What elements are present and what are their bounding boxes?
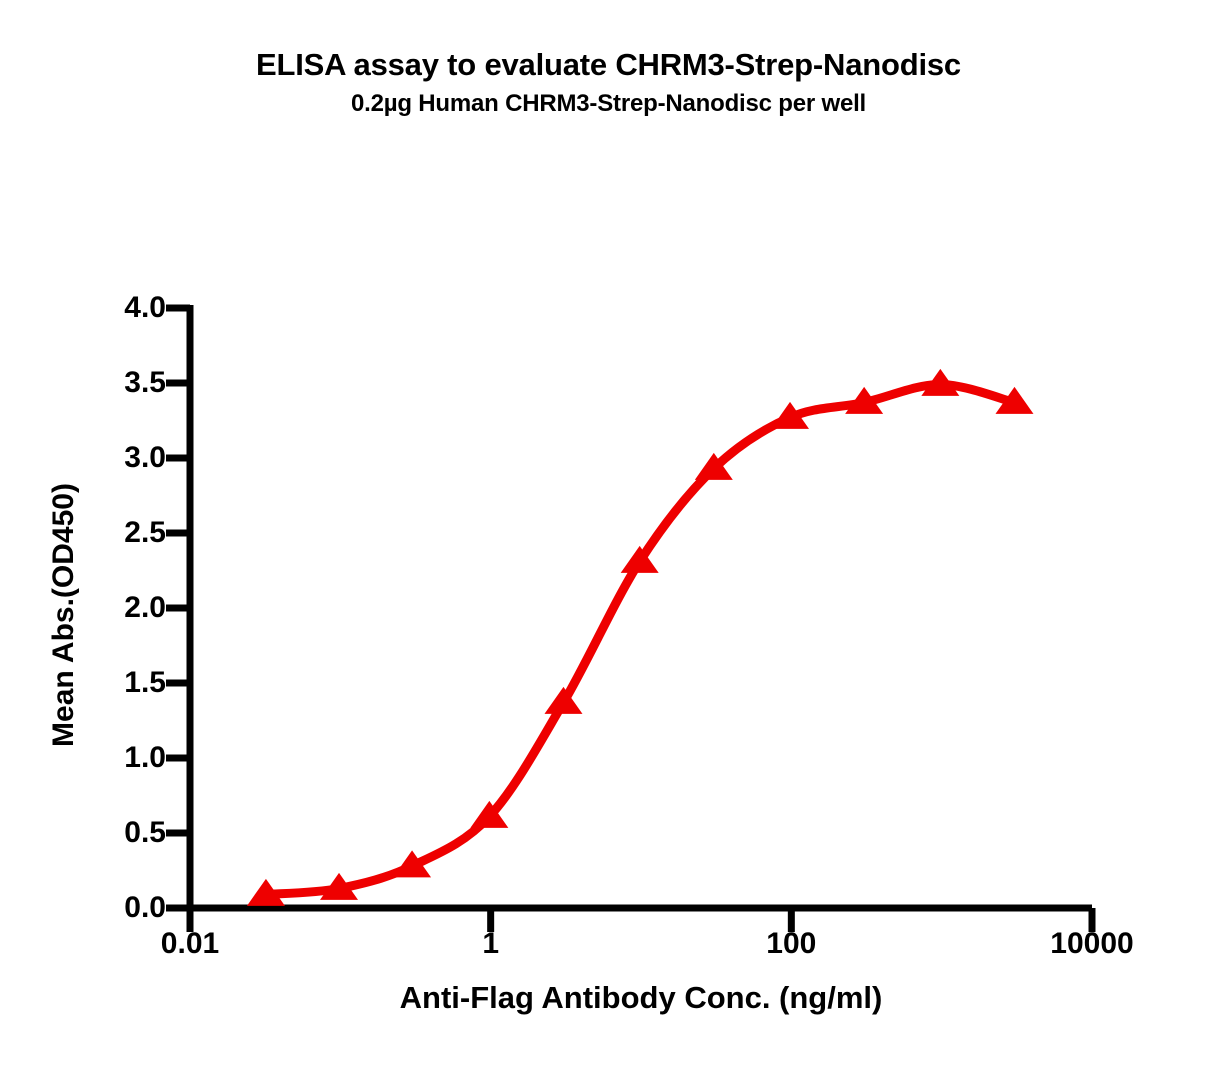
plot-canvas bbox=[0, 0, 1217, 1079]
x-axis-tick-label-text: 100 bbox=[691, 928, 891, 960]
data-point-marker bbox=[621, 546, 659, 573]
x-axis-title: Anti-Flag Antibody Conc. (ng/ml) bbox=[190, 980, 1092, 1016]
y-axis-tick-label: 4.0 bbox=[40, 293, 166, 323]
x-axis-tick-label-text: 10000 bbox=[992, 928, 1192, 960]
x-axis-tick-label: 0.01 bbox=[90, 928, 290, 960]
series-line bbox=[266, 385, 1015, 895]
x-axis-tick-label: 100 bbox=[691, 928, 891, 960]
elisa-chart-figure: ELISA assay to evaluate CHRM3-Strep-Nano… bbox=[0, 0, 1217, 1079]
axes bbox=[187, 305, 1092, 911]
x-axis-tick-label-text: 1 bbox=[391, 928, 591, 960]
data-markers bbox=[247, 369, 1034, 906]
y-axis-tick-label: 0.0 bbox=[40, 893, 166, 923]
x-axis-tick-label-text: 0.01 bbox=[90, 928, 290, 960]
data-point-marker bbox=[544, 687, 582, 714]
y-axis-tick-label-text: 0.0 bbox=[46, 893, 166, 923]
x-axis-tick-label: 10000 bbox=[992, 928, 1192, 960]
x-axis-tick-label: 1 bbox=[391, 928, 591, 960]
x-axis-ticks bbox=[190, 908, 1092, 932]
y-axis-tick-label-text: 4.0 bbox=[46, 293, 166, 323]
plot-area: 0.00.51.01.52.02.53.03.54.0 0.0111001000… bbox=[0, 0, 1217, 1079]
fitted-curve bbox=[266, 385, 1015, 895]
y-axis-title: Mean Abs.(OD450) bbox=[47, 375, 81, 855]
y-axis-ticks bbox=[166, 308, 190, 908]
